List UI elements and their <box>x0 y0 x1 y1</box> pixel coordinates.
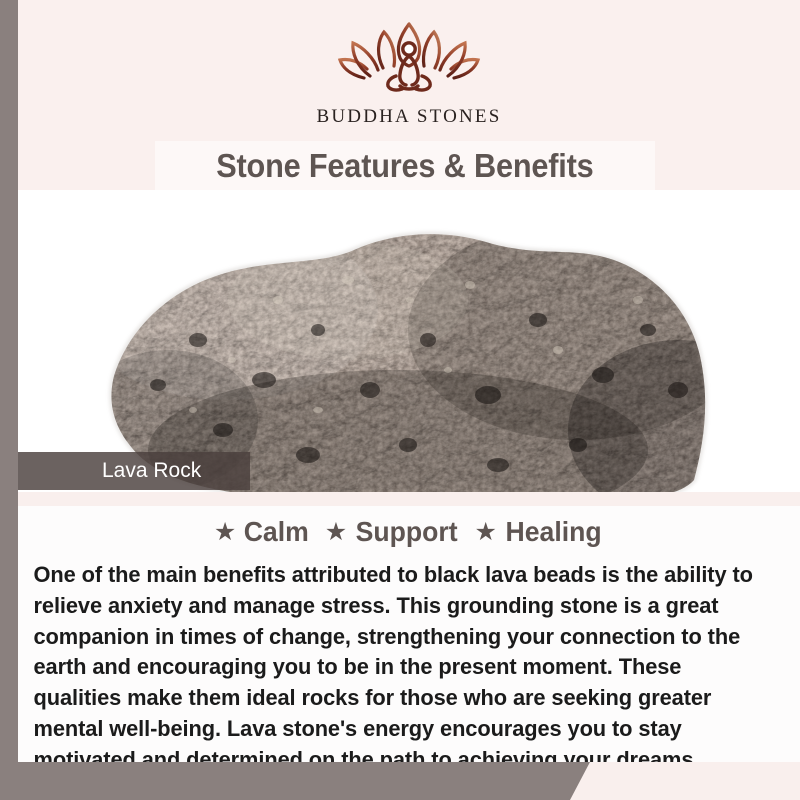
lava-rock-photo <box>18 190 800 495</box>
brand-logo: BUDDHA STONES <box>18 16 800 128</box>
body-panel: ★ Calm ★ Support ★ Healing One of the ma… <box>18 506 800 762</box>
feature-list: ★ Calm ★ Support ★ Healing <box>18 506 800 548</box>
infographic-card: BUDDHA STONES Stone Features & Benefits <box>0 0 800 800</box>
divider-strip <box>18 492 800 506</box>
photo-caption-bar: Lava Rock <box>18 452 250 490</box>
page-title: Stone Features & Benefits <box>216 147 593 185</box>
benefits-paragraph: One of the main benefits attributed to b… <box>18 560 777 776</box>
photo-caption-label: Lava Rock <box>18 459 201 483</box>
star-icon: ★ <box>325 520 347 545</box>
star-icon: ★ <box>475 520 497 545</box>
feature-item-calm: ★ Calm <box>214 516 311 548</box>
brand-name: BUDDHA STONES <box>316 106 501 128</box>
lotus-meditation-icon <box>334 16 484 102</box>
star-icon: ★ <box>214 520 236 545</box>
frame-bottom-bar <box>0 762 620 800</box>
feature-item-support: ★ Support <box>325 516 461 548</box>
title-band: Stone Features & Benefits <box>155 141 655 191</box>
feature-label: Calm <box>244 516 309 548</box>
feature-label: Support <box>356 516 458 548</box>
feature-item-healing: ★ Healing <box>475 516 605 548</box>
frame-left-bar <box>0 0 18 800</box>
feature-label: Healing <box>505 516 601 548</box>
